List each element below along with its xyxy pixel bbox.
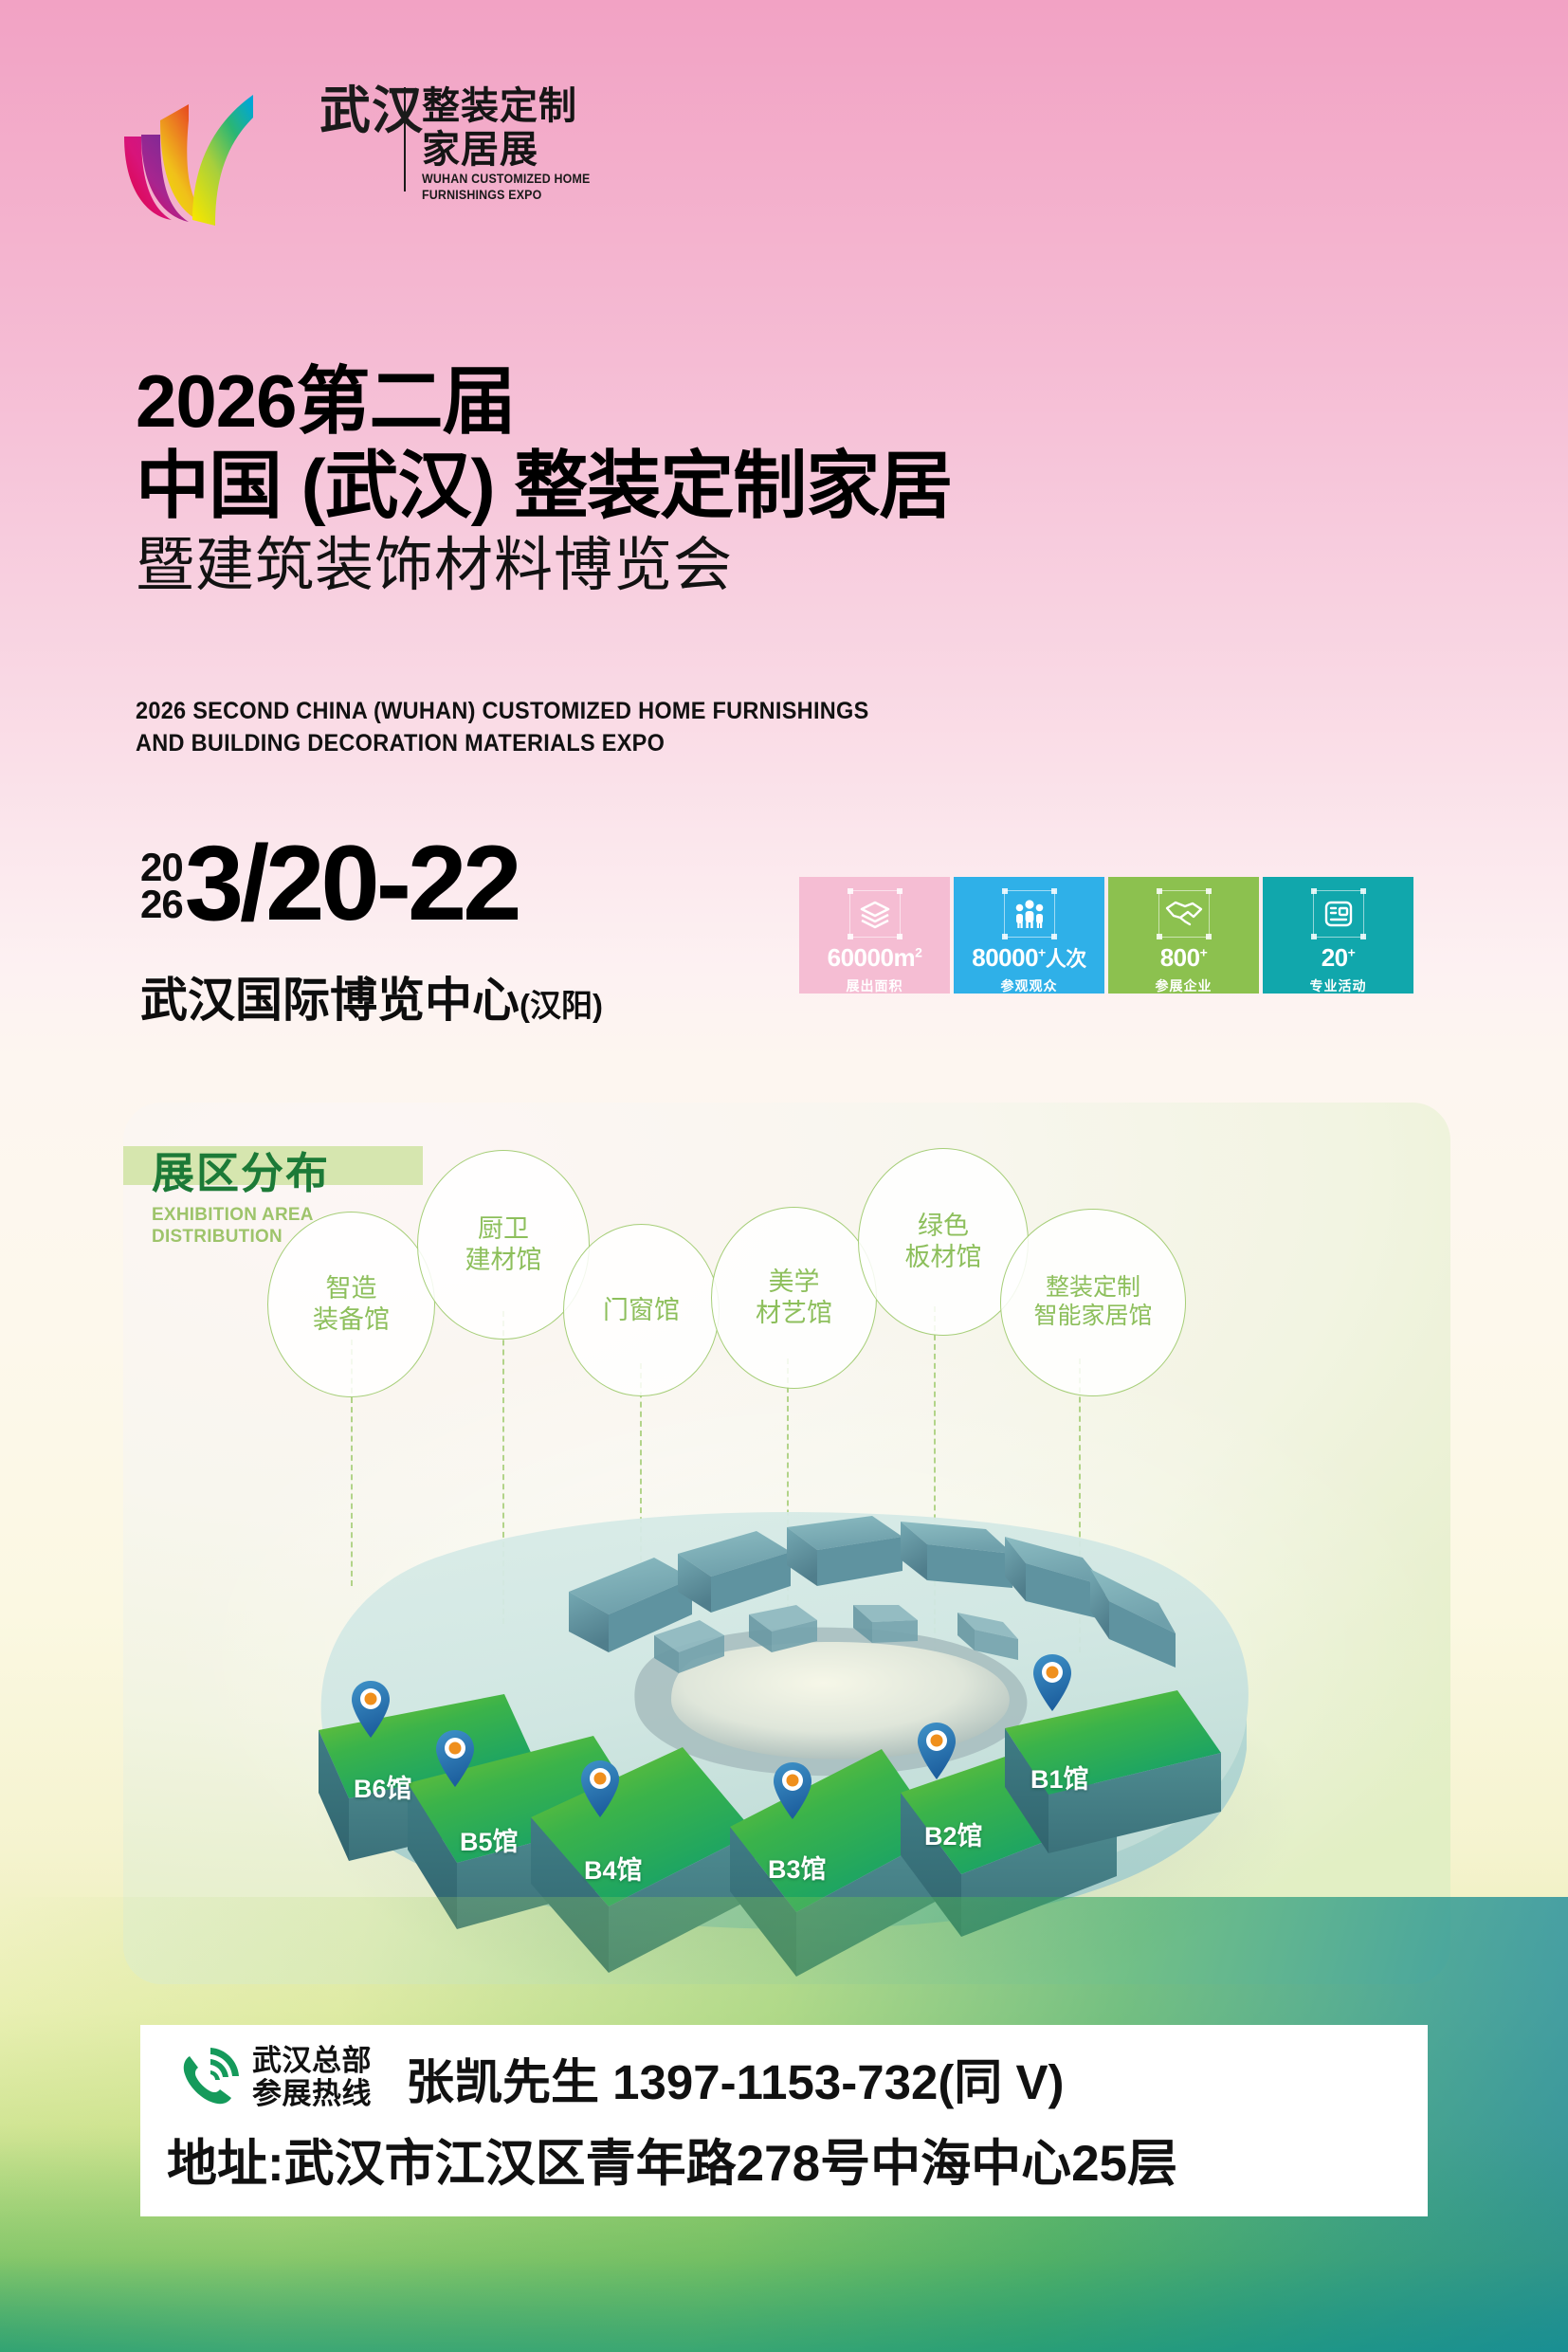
stat-value-area: 60000m2 bbox=[828, 945, 922, 970]
swoosh-logo-mark-icon bbox=[109, 78, 318, 229]
brand-logo: 武汉 整装定制 家居展 WUHAN CUSTOMIZED HOME FURNIS… bbox=[109, 114, 640, 228]
stat-card-visitors: 80000+人次 参观观众 bbox=[954, 877, 1104, 994]
logo-name-line2: 家居展 bbox=[422, 129, 577, 173]
handshake-icon bbox=[1162, 892, 1206, 936]
contact-row: 武汉总部 参展热线 张凯先生 1397-1153-732(同 V) bbox=[140, 2031, 1428, 2125]
event-date: 20 26 3/20-22 bbox=[140, 834, 519, 932]
zone-label-line1: 绿色 bbox=[905, 1211, 982, 1242]
zone-label-line2: 板材馆 bbox=[905, 1242, 982, 1273]
zone-label-line1: 门窗馆 bbox=[603, 1295, 680, 1326]
stat-value-exhibitors: 800+ bbox=[1160, 945, 1208, 970]
logo-english-line1: WUHAN CUSTOMIZED HOME bbox=[422, 171, 591, 187]
id-card-icon bbox=[1317, 892, 1360, 936]
hotline-label: 武汉总部 参展热线 bbox=[252, 2045, 372, 2110]
zone-circle-美学材艺馆[interactable]: 美学 材艺馆 bbox=[711, 1207, 877, 1389]
hotline-line1: 武汉总部 bbox=[252, 2045, 372, 2078]
page-title: 2026第二届 中国 (武汉) 整装定制家居 暨建筑装饰材料博览会 bbox=[136, 362, 952, 598]
venue-name: 武汉国际博览中心 bbox=[140, 974, 520, 1027]
stat-label-area: 展出面积 bbox=[847, 976, 903, 995]
layers-icon bbox=[853, 892, 897, 936]
zone-circle-整装定制智能家居馆[interactable]: 整装定制 智能家居馆 bbox=[1000, 1209, 1186, 1396]
zone-label-line2: 建材馆 bbox=[465, 1245, 542, 1276]
company-address: 地址:武汉市江汉区青年路278号中海中心25层 bbox=[167, 2124, 1177, 2196]
title-english-line1: 2026 SECOND CHINA (WUHAN) CUSTOMIZED HOM… bbox=[136, 695, 869, 727]
zone-label-line1: 智造 bbox=[313, 1273, 390, 1304]
hall-label-B4: B4馆 bbox=[584, 1850, 643, 1887]
zone-label-line2: 智能家居馆 bbox=[1033, 1303, 1152, 1332]
zone-label-line1: 厨卫 bbox=[465, 1213, 542, 1245]
title-english: 2026 SECOND CHINA (WUHAN) CUSTOMIZED HOM… bbox=[136, 695, 869, 759]
logo-name-line1: 整装定制 bbox=[422, 85, 577, 129]
exhibition-heading-cn: 展区分布 bbox=[152, 1139, 455, 1200]
zone-label-line2: 装备馆 bbox=[313, 1304, 390, 1336]
hall-label-B2: B2馆 bbox=[924, 1815, 983, 1852]
hall-label-B6: B6馆 bbox=[354, 1768, 412, 1805]
stat-value-activities: 20+ bbox=[1322, 945, 1356, 970]
stat-label-exhibitors: 参展企业 bbox=[1156, 976, 1212, 995]
exhibition-area-card: 展区分布 EXHIBITION AREA DISTRIBUTION 智造 装备馆… bbox=[123, 1103, 1450, 1984]
stat-card-activities: 20+ 专业活动 bbox=[1263, 877, 1413, 994]
hall-label-B5: B5馆 bbox=[460, 1821, 519, 1858]
event-year-bottom: 26 bbox=[140, 886, 183, 923]
stat-label-activities: 专业活动 bbox=[1310, 976, 1367, 995]
zone-label-line2: 材艺馆 bbox=[756, 1298, 832, 1329]
stat-value-visitors: 80000+人次 bbox=[972, 945, 1086, 970]
poster-root: 武汉 整装定制 家居展 WUHAN CUSTOMIZED HOME FURNIS… bbox=[0, 0, 1568, 2352]
logo-divider bbox=[404, 87, 406, 191]
hall-label-B1: B1馆 bbox=[1030, 1759, 1089, 1796]
event-year-top: 20 bbox=[140, 849, 183, 886]
stat-card-exhibitors: 800+ 参展企业 bbox=[1108, 877, 1259, 994]
event-date-range: 3/20-22 bbox=[185, 834, 519, 932]
title-line-3: 暨建筑装饰材料博览会 bbox=[136, 533, 952, 598]
stat-label-visitors: 参观观众 bbox=[1001, 976, 1058, 995]
zone-label-line1: 整装定制 bbox=[1033, 1274, 1152, 1304]
logo-city: 武汉 bbox=[319, 87, 424, 136]
logo-english: WUHAN CUSTOMIZED HOME FURNISHINGS EXPO bbox=[422, 171, 591, 204]
hotline-line2: 参展热线 bbox=[252, 2078, 372, 2111]
logo-english-line2: FURNISHINGS EXPO bbox=[422, 187, 591, 203]
contact-person-and-phone[interactable]: 张凯先生 1397-1153-732(同 V) bbox=[406, 2043, 1064, 2113]
stat-card-area: 60000m2 展出面积 bbox=[799, 877, 950, 994]
title-line-2: 中国 (武汉) 整装定制家居 bbox=[136, 445, 952, 527]
phone-signal-icon bbox=[176, 2047, 245, 2109]
title-english-line2: AND BUILDING DECORATION MATERIALS EXPO bbox=[136, 727, 869, 759]
zone-label-line1: 美学 bbox=[756, 1267, 832, 1298]
venue-note: (汉阳) bbox=[520, 988, 603, 1023]
stats-row: 60000m2 展出面积 80000+人次 bbox=[799, 877, 1413, 994]
zone-circle-智造装备馆[interactable]: 智造 装备馆 bbox=[267, 1212, 435, 1397]
event-year: 20 26 bbox=[140, 849, 183, 922]
title-line-1: 2026第二届 bbox=[136, 362, 952, 441]
logo-name: 整装定制 家居展 bbox=[422, 85, 577, 172]
venue-3d-map bbox=[123, 1415, 1450, 1984]
hall-label-B3: B3馆 bbox=[768, 1849, 827, 1886]
contact-footer: 武汉总部 参展热线 张凯先生 1397-1153-732(同 V) 地址:武汉市… bbox=[140, 2025, 1428, 2216]
zone-circle-门窗馆[interactable]: 门窗馆 bbox=[563, 1224, 720, 1396]
people-icon bbox=[1008, 892, 1051, 936]
event-venue: 武汉国际博览中心(汉阳) bbox=[140, 962, 603, 1030]
